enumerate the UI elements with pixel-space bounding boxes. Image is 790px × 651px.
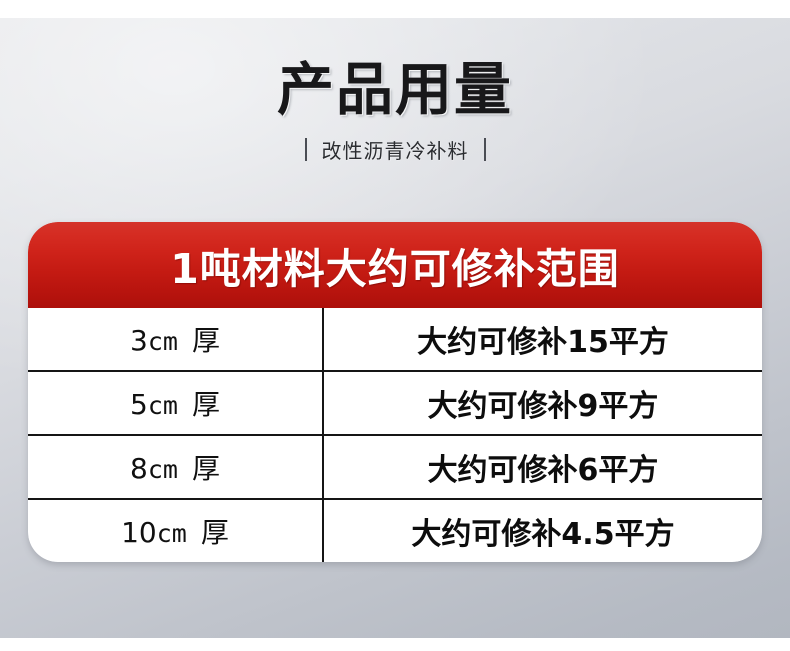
thickness-text: 3cm厚	[130, 319, 220, 359]
coverage-table-card: 1吨材料大约可修补范围 3cm厚 大约可修补15平方 5cm厚 大约可修补9平方	[28, 222, 762, 562]
thickness-unit: cm	[148, 455, 178, 484]
thickness-word: 厚	[192, 324, 220, 357]
thickness-value: 3	[130, 324, 148, 357]
table-cell-coverage: 大约可修补4.5平方	[324, 500, 762, 562]
page-subtitle: 改性沥青冷补料	[322, 135, 469, 164]
thickness-text: 10cm厚	[121, 511, 229, 551]
table-cell-coverage: 大约可修补9平方	[324, 372, 762, 434]
thickness-value: 8	[130, 452, 148, 485]
thickness-word: 厚	[201, 516, 229, 549]
thickness-unit: cm	[148, 391, 178, 420]
table-row: 5cm厚 大约可修补9平方	[28, 372, 762, 436]
thickness-word: 厚	[192, 388, 220, 421]
thickness-text: 5cm厚	[130, 383, 220, 423]
table-row: 8cm厚 大约可修补6平方	[28, 436, 762, 500]
table-cell-thickness: 10cm厚	[28, 500, 324, 562]
poster-header: 产品用量 改性沥青冷补料	[0, 62, 790, 164]
coverage-text: 大约可修补6平方	[428, 445, 659, 489]
subtitle-divider-right-icon	[484, 138, 486, 161]
subtitle-row: 改性沥青冷补料	[0, 135, 790, 164]
coverage-text: 大约可修补15平方	[417, 317, 669, 361]
subtitle-divider-left-icon	[305, 138, 307, 161]
coverage-table-body: 3cm厚 大约可修补15平方 5cm厚 大约可修补9平方 8cm厚	[28, 308, 762, 562]
thickness-unit: cm	[148, 327, 178, 356]
coverage-text: 大约可修补4.5平方	[411, 509, 674, 553]
thickness-value: 10	[121, 516, 157, 549]
table-cell-thickness: 8cm厚	[28, 436, 324, 498]
thickness-text: 8cm厚	[130, 447, 220, 487]
thickness-value: 5	[130, 388, 148, 421]
table-cell-thickness: 3cm厚	[28, 308, 324, 370]
product-usage-poster: 产品用量 改性沥青冷补料 1吨材料大约可修补范围 3cm厚 大约可修补15平方 …	[0, 0, 790, 651]
table-row: 10cm厚 大约可修补4.5平方	[28, 500, 762, 562]
thickness-unit: cm	[157, 519, 187, 548]
coverage-table-banner-label: 1吨材料大约可修补范围	[170, 235, 620, 295]
page-title: 产品用量	[0, 62, 790, 119]
table-row: 3cm厚 大约可修补15平方	[28, 308, 762, 372]
coverage-table-banner: 1吨材料大约可修补范围	[28, 222, 762, 308]
table-cell-thickness: 5cm厚	[28, 372, 324, 434]
table-cell-coverage: 大约可修补6平方	[324, 436, 762, 498]
coverage-text: 大约可修补9平方	[428, 381, 659, 425]
thickness-word: 厚	[192, 452, 220, 485]
table-cell-coverage: 大约可修补15平方	[324, 308, 762, 370]
